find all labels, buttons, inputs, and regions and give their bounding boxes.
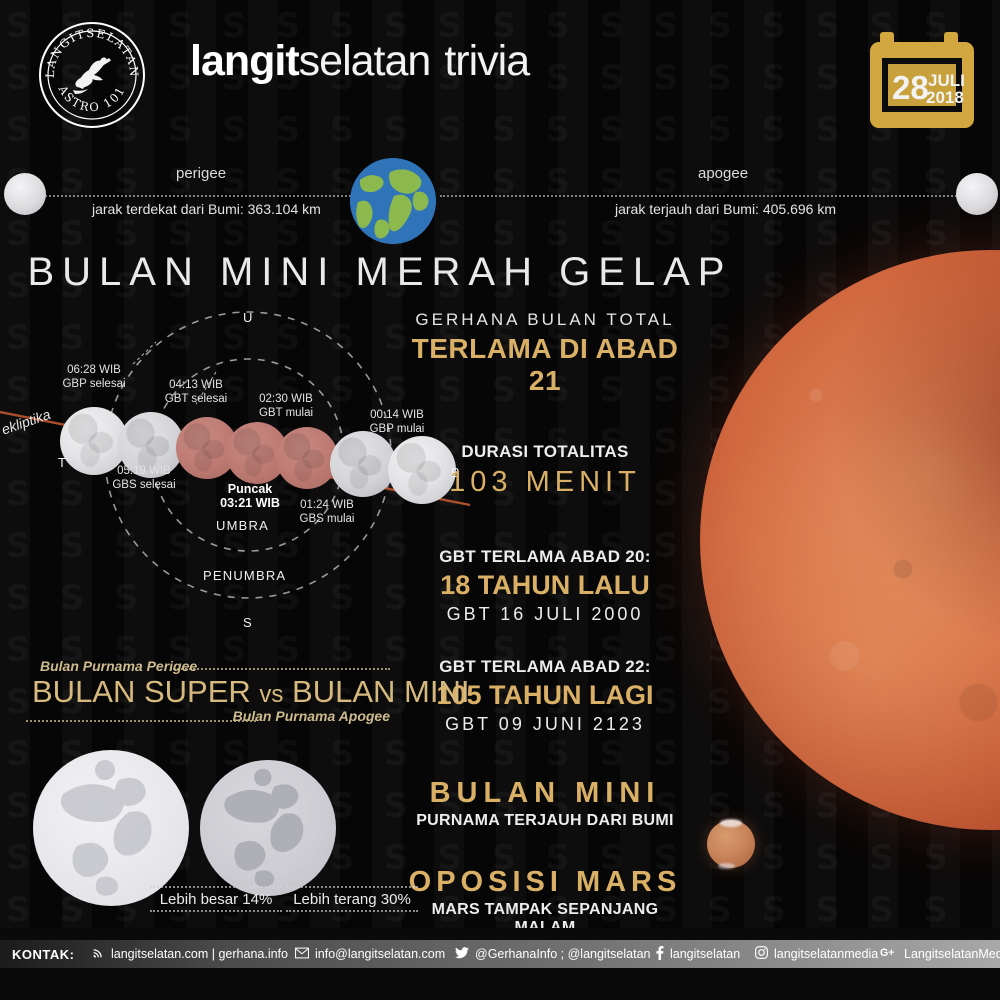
perigee-dotted-line xyxy=(42,195,362,197)
footer-item-label: langitselatan xyxy=(670,947,740,961)
footer-item-twitter[interactable]: @GerhanaInfo ; @langitselatan xyxy=(455,947,650,962)
minimoon-maria xyxy=(200,760,336,896)
instagram-icon xyxy=(755,946,768,962)
minimoon-disk xyxy=(200,760,336,896)
apogee-label: apogee xyxy=(698,165,748,182)
orbit-distance-band xyxy=(0,150,1000,250)
duration-value: 103 MENIT xyxy=(400,466,690,499)
footer-item-googleplus[interactable]: G+LangitselatanMedia xyxy=(880,946,1000,962)
earth-icon xyxy=(350,158,436,244)
compare-bottom-caption: Bulan Purnama Apogee xyxy=(233,708,390,724)
compare-title-mini: BULAN MINI xyxy=(292,674,469,709)
brand-title: langitselatantrivia xyxy=(190,37,529,86)
compare-title-vs: vs xyxy=(259,681,283,708)
peak-time: 03:21 WIB xyxy=(220,496,280,510)
rss-icon xyxy=(92,946,105,962)
infographic-canvas: SSSSSSSSSSSSSSSSSSSSSSSSSSSSSSSSSSSSSSSS… xyxy=(0,0,1000,1000)
minimoon-subtitle: PURNAMA TERJAUH DARI BUMI xyxy=(400,812,690,830)
headline-kicker: GERHANA BULAN TOTAL xyxy=(400,310,690,330)
footer-item-instagram[interactable]: langitselatanmedia xyxy=(755,946,878,962)
phase-event-3: GBT mulai xyxy=(259,407,313,419)
googleplus-icon: G+ xyxy=(880,946,898,962)
apogee-value: jarak terjauh dari Bumi: 405.696 km xyxy=(615,201,836,217)
compare-title: BULAN SUPER vs BULAN MINI xyxy=(32,674,469,710)
footer-item-envelope[interactable]: info@langitselatan.com xyxy=(295,947,445,962)
facebook-icon xyxy=(655,946,664,963)
peak-label: Puncak xyxy=(228,482,272,496)
phase-time-1: 05:19 WIB xyxy=(117,465,171,477)
stats-column: GERHANA BULAN TOTAL TERLAMA DI ABAD 21 D… xyxy=(400,310,690,937)
phase-label-3: 02:30 WIB GBT mulai xyxy=(240,392,332,420)
mars-north-cap xyxy=(720,819,741,827)
phase-label-2: 04:13 WIB GBT selesai xyxy=(150,378,242,406)
mars-planet-icon xyxy=(707,820,755,868)
century20-date: GBT 16 JULI 2000 xyxy=(400,604,690,625)
headline-gold: TERLAMA DI ABAD 21 xyxy=(400,333,690,397)
century20-label: GBT TERLAMA ABAD 20: xyxy=(400,547,690,567)
century22-date: GBT 09 JUNI 2123 xyxy=(400,714,690,735)
footer-item-label: info@langitselatan.com xyxy=(315,947,445,961)
century20-block: GBT TERLAMA ABAD 20: 18 TAHUN LALU GBT 1… xyxy=(400,547,690,625)
headline-block: GERHANA BULAN TOTAL TERLAMA DI ABAD 21 xyxy=(400,310,690,397)
compare-dash-bottom xyxy=(26,720,256,722)
svg-text:2018: 2018 xyxy=(926,88,964,107)
mars-title: OPOSISI MARS xyxy=(400,866,690,899)
caption-brighter: Lebih terang 30% xyxy=(286,886,418,912)
footer-links-row: langitselatan.com | gerhana.infoinfo@lan… xyxy=(0,940,1000,968)
minimoon-title: BULAN MINI xyxy=(400,777,690,810)
compass-east: T xyxy=(58,455,67,470)
duration-label: DURASI TOTALITAS xyxy=(400,442,690,462)
footer-item-rss[interactable]: langitselatan.com | gerhana.info xyxy=(92,946,288,962)
compass-south: S xyxy=(243,615,253,630)
penumbra-label: PENUMBRA xyxy=(203,568,286,583)
perigee-label: perigee xyxy=(176,165,226,182)
phase-event-1: GBS selesai xyxy=(112,479,175,491)
phase-label-4: 01:24 WIB GBS mulai xyxy=(281,498,373,526)
phase-event-4: GBS mulai xyxy=(300,513,355,525)
header: LANGITSELATAN ASTRO 101 langitselatantri… xyxy=(0,0,1000,150)
compare-dash-top xyxy=(170,668,390,670)
supermoon-disk xyxy=(33,750,189,906)
eclipse-moon-gbt-mulai xyxy=(276,427,338,489)
supermoon-maria xyxy=(33,750,189,906)
phase-time-0: 06:28 WIB xyxy=(67,364,121,376)
mars-block: OPOSISI MARS MARS TAMPAK SEPANJANG MALAM xyxy=(400,866,690,937)
phase-time-3: 02:30 WIB xyxy=(259,393,313,405)
svg-text:28: 28 xyxy=(892,69,929,106)
compare-title-super: BULAN SUPER xyxy=(32,674,251,709)
compass-north: U xyxy=(243,310,254,325)
apogee-moon-icon xyxy=(956,173,998,215)
phase-time-4: 01:24 WIB xyxy=(300,499,354,511)
kontak-label: KONTAK: xyxy=(12,940,74,968)
footer-item-label: LangitselatanMedia xyxy=(904,947,1000,961)
perigee-moon-icon xyxy=(4,173,46,215)
page-title: BULAN MINI MERAH GELAP xyxy=(0,250,760,295)
footer-contact-bar: langitselatan.com | gerhana.infoinfo@lan… xyxy=(0,928,1000,1000)
envelope-icon xyxy=(295,947,309,962)
footer-item-label: langitselatan.com | gerhana.info xyxy=(111,947,288,961)
svg-text:G+: G+ xyxy=(880,947,894,959)
duration-block: DURASI TOTALITAS 103 MENIT xyxy=(400,442,690,499)
langitselatan-logo: LANGITSELATAN ASTRO 101 xyxy=(37,20,147,130)
compare-top-caption: Bulan Purnama Perigee xyxy=(40,658,197,674)
date-badge: 28 JULI 2018 xyxy=(868,24,976,134)
apogee-dotted-line xyxy=(440,195,960,197)
century20-value: 18 TAHUN LALU xyxy=(400,570,690,601)
footer-item-label: @GerhanaInfo ; @langitselatan xyxy=(475,947,650,961)
brand-bold: langit xyxy=(190,37,299,85)
brand-trivia: trivia xyxy=(444,37,529,85)
phase-event-0: GBP selesai xyxy=(62,378,125,390)
footer-item-label: langitselatanmedia xyxy=(774,947,878,961)
svg-text:ASTRO 101: ASTRO 101 xyxy=(55,82,128,114)
phase-label-1: 05:19 WIB GBS selesai xyxy=(98,464,190,492)
phase-time-2: 04:13 WIB xyxy=(169,379,223,391)
perigee-value: jarak terdekat dari Bumi: 363.104 km xyxy=(92,201,321,217)
caption-size-bigger: Lebih besar 14% xyxy=(150,886,282,912)
eclipse-moon-gbs-mulai xyxy=(330,431,396,497)
umbra-label: UMBRA xyxy=(216,518,269,533)
footer-item-facebook[interactable]: langitselatan xyxy=(655,946,740,963)
minimoon-block: BULAN MINI PURNAMA TERJAUH DARI BUMI xyxy=(400,777,690,830)
brand-light: selatan xyxy=(299,37,431,85)
phase-event-2: GBT selesai xyxy=(165,393,227,405)
phase-label-0: 06:28 WIB GBP selesai xyxy=(48,363,140,391)
twitter-icon xyxy=(455,947,469,962)
